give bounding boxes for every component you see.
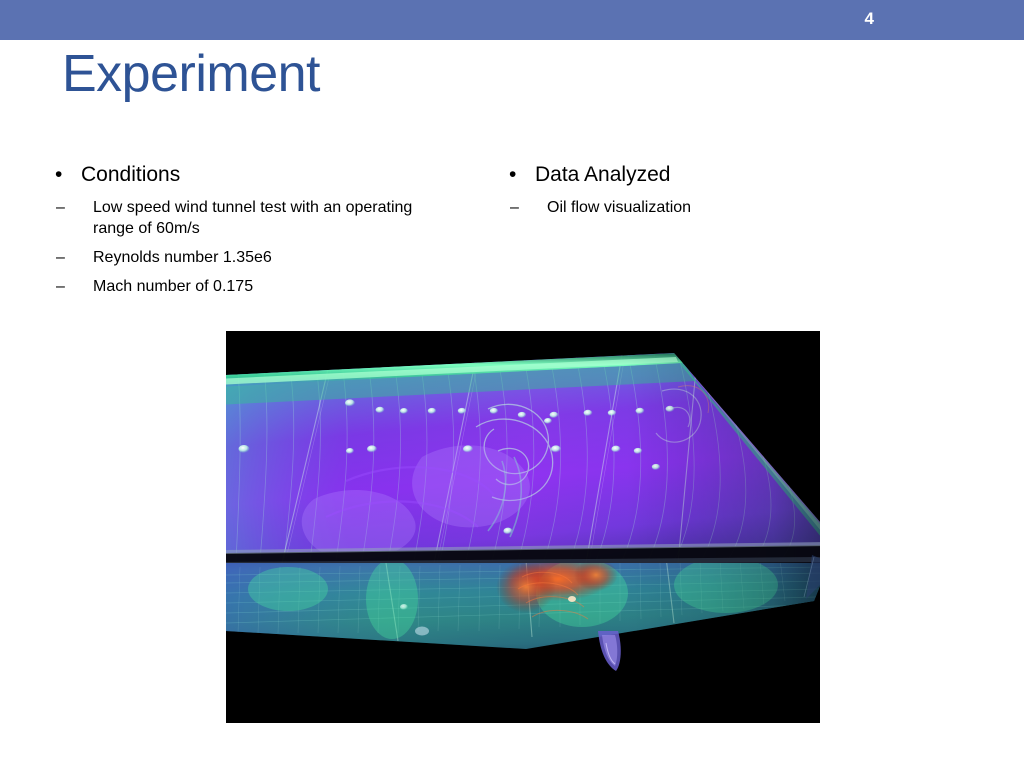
bullet-heading-label: Data Analyzed bbox=[535, 160, 670, 190]
sub-bullet-label: Reynolds number 1.35e6 bbox=[93, 247, 272, 268]
sub-bullet-item: – Low speed wind tunnel test with an ope… bbox=[46, 197, 498, 239]
bullet-glyph-icon: • bbox=[46, 160, 81, 190]
oil-flow-visualization-image bbox=[226, 331, 820, 723]
content-column-left: • Conditions – Low speed wind tunnel tes… bbox=[46, 160, 498, 305]
sub-bullet-label: Oil flow visualization bbox=[547, 197, 691, 218]
dash-glyph-icon: – bbox=[500, 197, 547, 218]
dash-glyph-icon: – bbox=[46, 197, 93, 218]
dash-glyph-icon: – bbox=[46, 247, 93, 268]
bullet-item-conditions: • Conditions bbox=[46, 160, 498, 190]
dash-glyph-icon: – bbox=[46, 276, 93, 297]
sub-bullet-item: – Reynolds number 1.35e6 bbox=[46, 247, 498, 268]
sub-bullet-label: Low speed wind tunnel test with an opera… bbox=[93, 197, 448, 239]
page-title: Experiment bbox=[62, 43, 320, 105]
content-column-right: • Data Analyzed – Oil flow visualization bbox=[500, 160, 960, 226]
sub-bullet-list-data-analyzed: – Oil flow visualization bbox=[500, 197, 960, 218]
sub-bullet-label: Mach number of 0.175 bbox=[93, 276, 253, 297]
sub-bullet-list-conditions: – Low speed wind tunnel test with an ope… bbox=[46, 197, 498, 297]
sub-bullet-item: – Oil flow visualization bbox=[500, 197, 960, 218]
sub-bullet-item: – Mach number of 0.175 bbox=[46, 276, 498, 297]
bullet-item-data-analyzed: • Data Analyzed bbox=[500, 160, 960, 190]
bullet-glyph-icon: • bbox=[500, 160, 535, 190]
oil-flow-visualization-photo bbox=[226, 331, 820, 723]
slide-number: 4 bbox=[865, 9, 874, 29]
bullet-heading-label: Conditions bbox=[81, 160, 180, 190]
